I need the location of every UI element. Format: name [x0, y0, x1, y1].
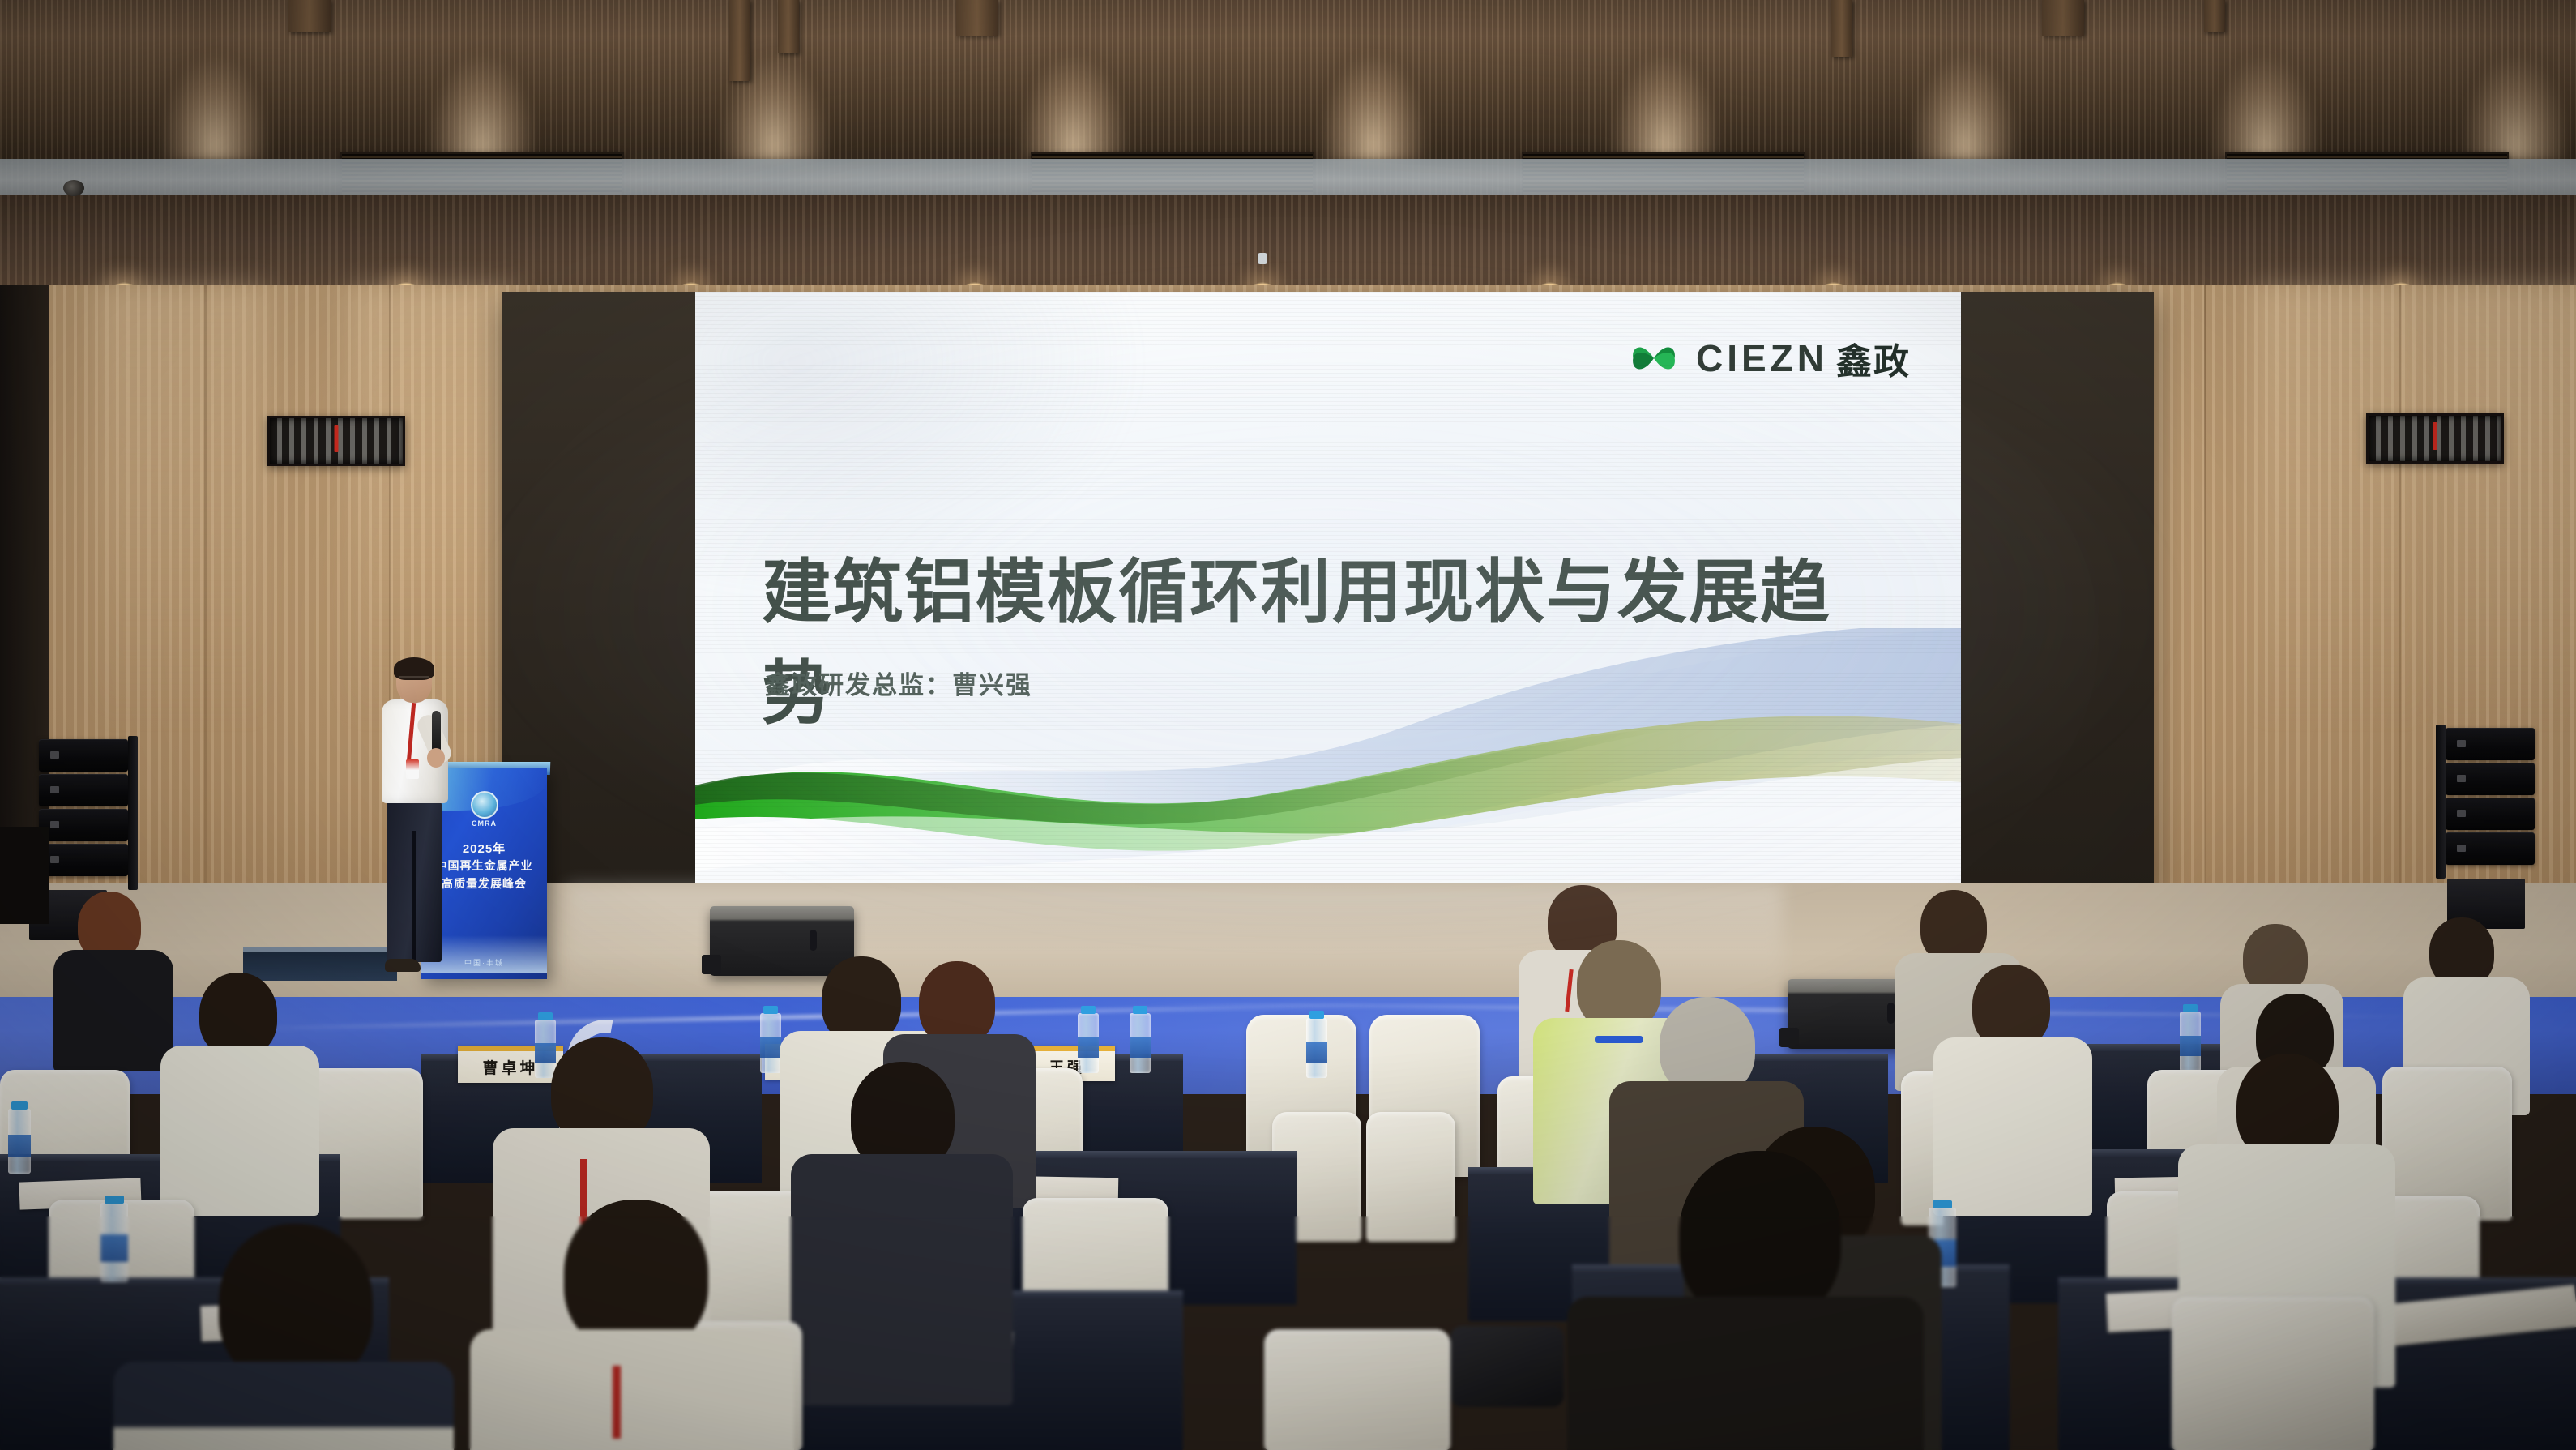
- ceiling-uplight: [2439, 0, 2576, 162]
- water-bottle: [2180, 1012, 2201, 1071]
- ceiling-uplight: [1888, 0, 2042, 162]
- logo-chinese: 鑫政: [1836, 332, 1911, 384]
- line-array-rail: [128, 736, 138, 890]
- lanyard: [580, 1159, 587, 1224]
- ceiling-beam: [956, 0, 998, 36]
- line-array-speaker-left: [39, 739, 128, 879]
- stage-monitor-wedge: [710, 906, 854, 976]
- wedge-connector: [702, 955, 721, 974]
- line-array-module: [2446, 798, 2535, 830]
- line-array-module: [2446, 728, 2535, 760]
- ciezn-leaf-mark-icon: [1626, 331, 1681, 386]
- floor-bag: [1450, 1326, 1564, 1407]
- water-bottle: [1130, 1013, 1151, 1073]
- led-blank-panel-right: [1961, 292, 2154, 896]
- presenter: [369, 661, 458, 985]
- line-array-module: [39, 809, 128, 841]
- ceiling-uplight: [1588, 0, 1742, 162]
- water-bottle: [100, 1203, 128, 1282]
- lanyard: [613, 1366, 621, 1439]
- chair: [2172, 1297, 2374, 1450]
- ceiling-uplight: [138, 0, 292, 162]
- wedge-connector: [1779, 1028, 1799, 1047]
- line-array-speaker-right: [2446, 728, 2535, 867]
- ceiling-beam: [778, 0, 799, 53]
- ceiling-uplight: [405, 0, 559, 162]
- ceiling-uplight: [1297, 0, 1450, 162]
- presenter-hand: [427, 748, 445, 768]
- presentation-slide: CIEZN 鑫政 建筑铝模板循环利用现状与发展趋势 鑫政研发总监：曹兴强: [695, 292, 1961, 896]
- slide-logo: CIEZN 鑫政: [1626, 331, 1911, 386]
- ceiling-uplight: [997, 0, 1151, 162]
- water-bottle: [1306, 1018, 1327, 1078]
- ceiling-smoke-detector: [1258, 253, 1267, 264]
- water-bottle: [760, 1013, 781, 1073]
- water-bottle: [1078, 1013, 1099, 1073]
- security-camera-icon: [63, 180, 84, 196]
- cmra-logo-icon: [471, 791, 498, 819]
- wall-vent-grille: [267, 416, 405, 466]
- water-bottle: [8, 1109, 31, 1174]
- slide-subtitle: 鑫政研发总监：曹兴强: [765, 665, 1032, 701]
- slide-title: 建筑铝模板循环利用现状与发展趋势: [762, 535, 1896, 738]
- chair: [1366, 1112, 1455, 1242]
- led-screen-wall: CIEZN 鑫政 建筑铝模板循环利用现状与发展趋势 鑫政研发总监：曹兴强: [502, 292, 2154, 896]
- ceiling-beam: [288, 0, 331, 32]
- ceiling-beam: [2042, 0, 2084, 36]
- conference-hall-photo: CIEZN 鑫政 建筑铝模板循环利用现状与发展趋势 鑫政研发总监：曹兴强 CMR…: [0, 0, 2576, 1450]
- vent-red-indicator: [335, 425, 339, 452]
- presenter-badge: [406, 759, 419, 779]
- presenter-leg-split: [412, 831, 416, 960]
- line-array-module: [2446, 832, 2535, 865]
- line-array-module: [39, 739, 128, 772]
- line-array-module: [2446, 763, 2535, 795]
- logo-latin: CIEZN: [1696, 336, 1828, 380]
- ceiling-lower-grain: [0, 195, 2576, 300]
- lanyard: [1595, 1036, 1643, 1043]
- presenter-shoe: [385, 959, 421, 972]
- line-array-module: [39, 774, 128, 806]
- left-equipment-case: [0, 827, 49, 924]
- ceiling-beam: [1831, 0, 1852, 57]
- ceiling-beam: [729, 0, 750, 81]
- ceiling-uplight: [697, 0, 851, 162]
- line-array-rail: [2436, 725, 2446, 879]
- logo-wordmark: CIEZN 鑫政: [1696, 332, 1911, 384]
- ceiling-beam: [2204, 0, 2225, 32]
- wall-vent-grille: [2366, 413, 2504, 464]
- glasses-icon: [399, 676, 429, 683]
- chair: [1264, 1329, 1450, 1450]
- vent-red-indicator: [2433, 422, 2437, 450]
- water-bottle: [535, 1020, 556, 1078]
- line-array-module: [39, 844, 128, 876]
